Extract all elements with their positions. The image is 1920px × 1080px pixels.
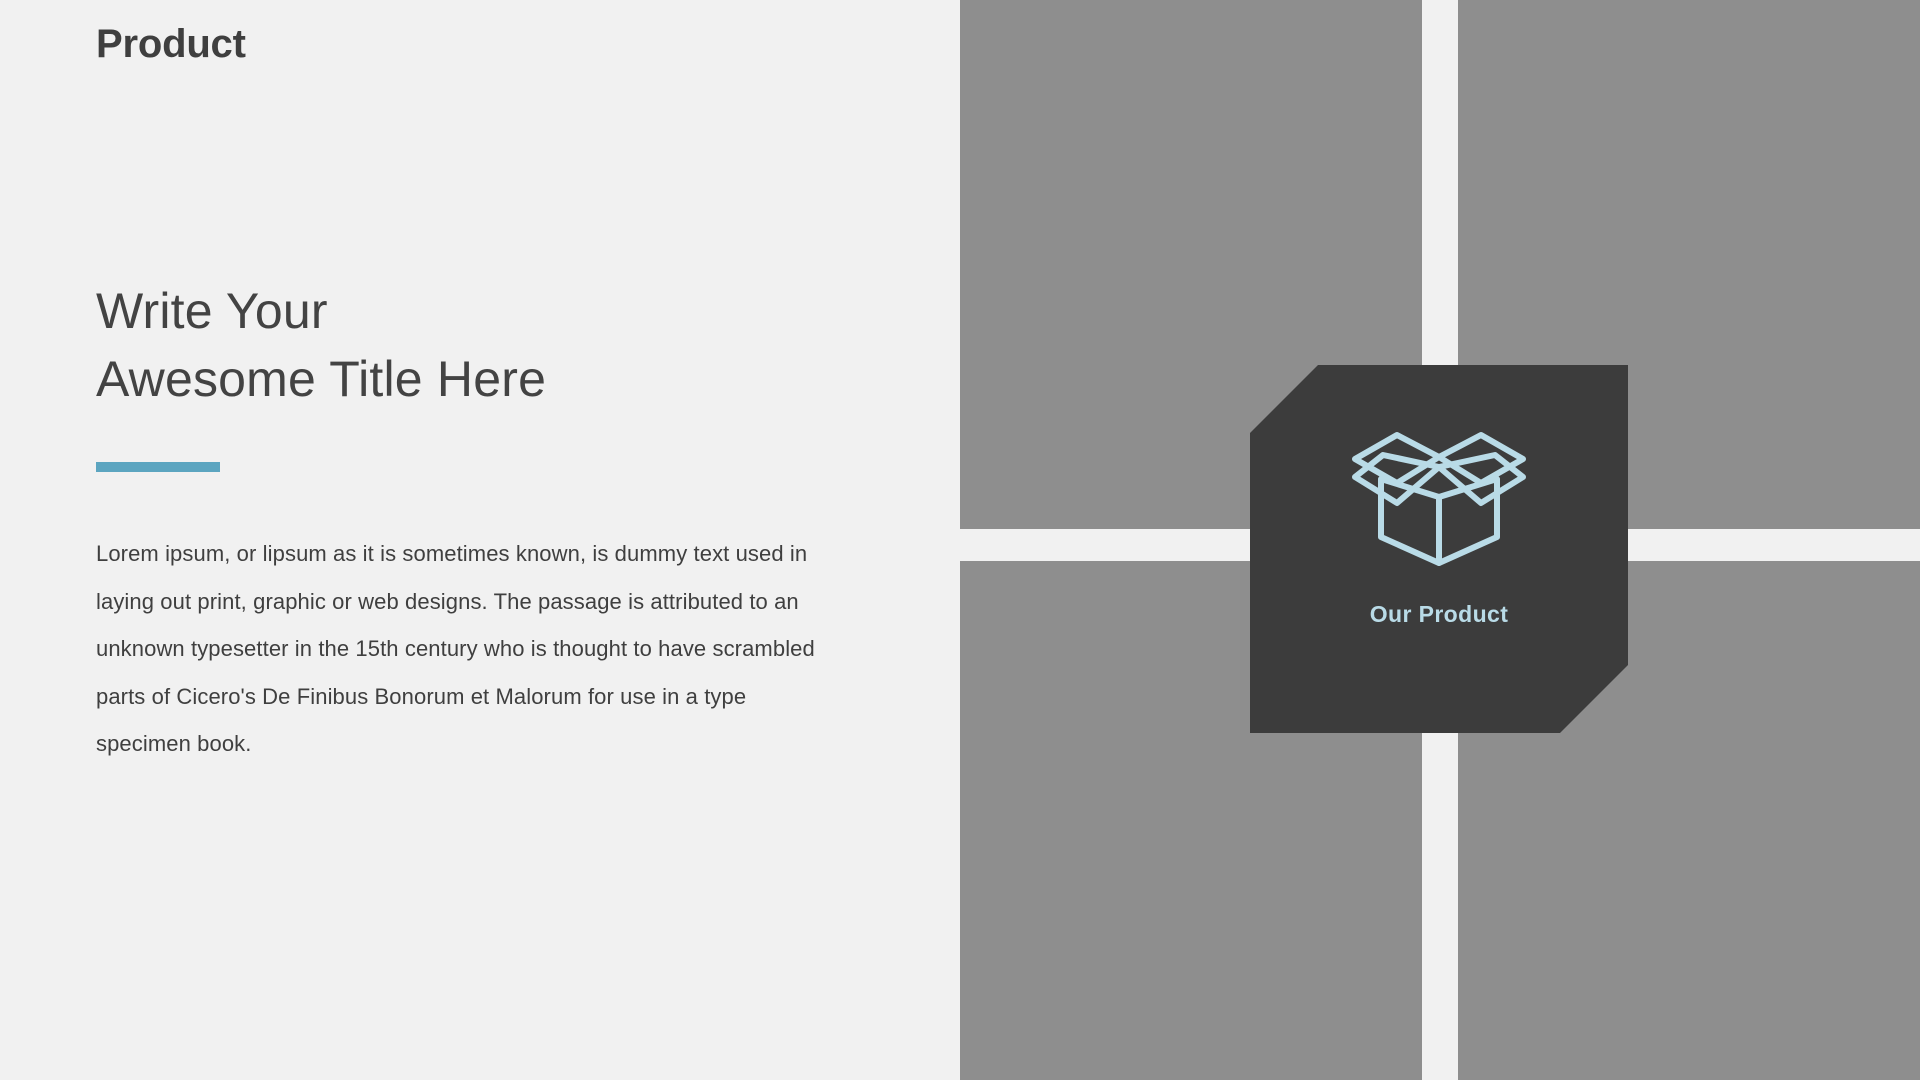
accent-divider	[96, 462, 220, 472]
section-label: Product	[96, 22, 246, 67]
product-card-label: Our Product	[1370, 601, 1509, 628]
page-title-line-2: Awesome Title Here	[96, 345, 856, 413]
body-paragraph: Lorem ipsum, or lipsum as it is sometime…	[96, 530, 836, 768]
slide-canvas: Product Write Your Awesome Title Here Lo…	[0, 0, 1920, 1080]
page-title: Write Your Awesome Title Here	[96, 277, 856, 413]
open-box-icon	[1349, 421, 1529, 571]
page-title-line-1: Write Your	[96, 277, 856, 345]
product-card[interactable]: Our Product	[1250, 365, 1628, 733]
product-card-content: Our Product	[1250, 365, 1628, 733]
left-content-panel: Product Write Your Awesome Title Here Lo…	[0, 0, 960, 1080]
